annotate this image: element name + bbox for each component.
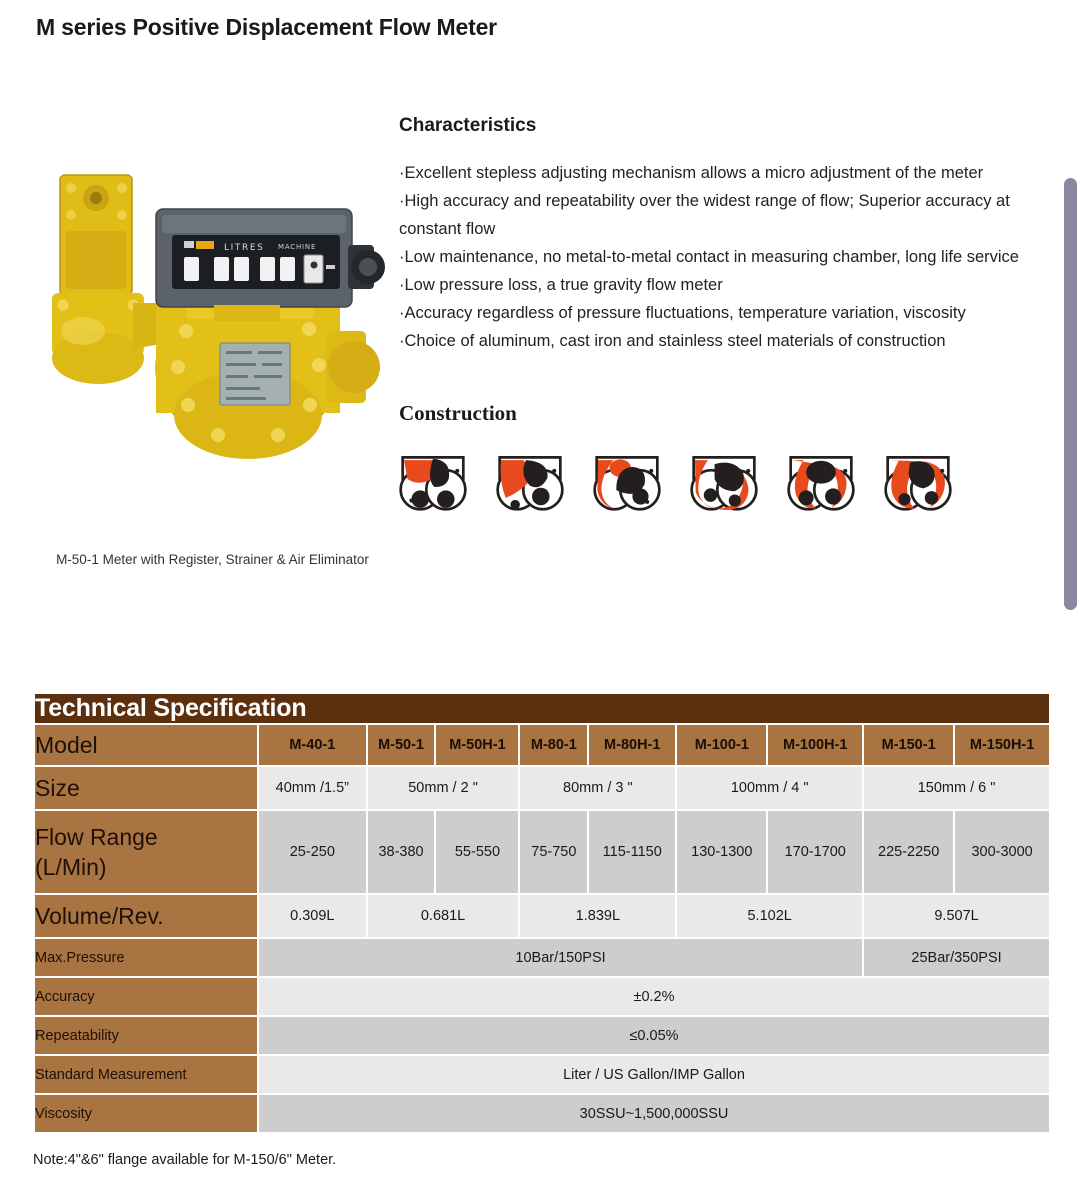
characteristics-heading: Characteristics — [399, 115, 1059, 137]
rotary-lobe-frame-5-icon — [787, 452, 855, 514]
size-cell: 50mm / 2 " — [368, 767, 519, 809]
size-cell: 80mm / 3 " — [520, 767, 675, 809]
max-pressure-cell: 25Bar/350PSI — [864, 939, 1049, 976]
size-cell: 100mm / 4 " — [677, 767, 862, 809]
table-row-viscosity: Viscosity 30SSU~1,500,000SSU — [35, 1095, 1049, 1132]
rotary-lobe-frame-2-icon — [496, 452, 564, 514]
characteristic-item: ·Low pressure loss, a true gravity flow … — [399, 271, 1059, 299]
characteristic-item: ·Accuracy regardless of pressure fluctua… — [399, 299, 1059, 327]
rotary-lobe-frame-1-icon — [399, 452, 467, 514]
viscosity-cell: 30SSU~1,500,000SSU — [259, 1095, 1049, 1132]
technical-specification-table: Technical Specification Model M-40-1 M-5… — [33, 692, 1051, 1134]
model-cell: M-50H-1 — [436, 725, 518, 765]
flow-cell: 115-1150 — [589, 811, 675, 893]
rotary-lobe-frame-3-icon — [593, 452, 661, 514]
page-title: M series Positive Displacement Flow Mete… — [36, 14, 497, 41]
row-label-model: Model — [35, 725, 257, 765]
table-row-accuracy: Accuracy ±0.2% — [35, 978, 1049, 1015]
flow-cell: 170-1700 — [768, 811, 862, 893]
table-row-repeatability: Repeatability ≤0.05% — [35, 1017, 1049, 1054]
model-cell: M-40-1 — [259, 725, 366, 765]
max-pressure-cell: 10Bar/150PSI — [259, 939, 862, 976]
table-row-size: Size 40mm /1.5” 50mm / 2 " 80mm / 3 " 10… — [35, 767, 1049, 809]
size-cell: 40mm /1.5” — [259, 767, 366, 809]
construction-heading: Construction — [399, 401, 1059, 426]
row-label-size: Size — [35, 767, 257, 809]
rotary-lobe-frame-4-icon — [690, 452, 758, 514]
row-label-standard-measurement: Standard Measurement — [35, 1056, 257, 1093]
register-litres-label: LITRES — [224, 243, 264, 253]
volume-cell: 5.102L — [677, 895, 862, 937]
product-page: M series Positive Displacement Flow Mete… — [0, 0, 1080, 1193]
row-label-max-pressure: Max.Pressure — [35, 939, 257, 976]
flow-cell: 225-2250 — [864, 811, 953, 893]
volume-cell: 1.839L — [520, 895, 675, 937]
volume-cell: 0.309L — [259, 895, 366, 937]
row-label-viscosity: Viscosity — [35, 1095, 257, 1132]
table-row-standard-measurement: Standard Measurement Liter / US Gallon/I… — [35, 1056, 1049, 1093]
volume-cell: 0.681L — [368, 895, 519, 937]
row-label-flow-range: Flow Range (L/Min) — [35, 811, 257, 893]
characteristic-item: ·High accuracy and repeatability over th… — [399, 187, 1059, 243]
model-cell: M-80H-1 — [589, 725, 675, 765]
repeatability-cell: ≤0.05% — [259, 1017, 1049, 1054]
product-image: LITRES MACHINE — [30, 95, 395, 550]
table-row-max-pressure: Max.Pressure 10Bar/150PSI 25Bar/350PSI — [35, 939, 1049, 976]
table-row-volume-per-rev: Volume/Rev. 0.309L 0.681L 1.839L 5.102L … — [35, 895, 1049, 937]
model-cell: M-80-1 — [520, 725, 587, 765]
row-label-accuracy: Accuracy — [35, 978, 257, 1015]
product-caption: M-50-1 Meter with Register, Strainer & A… — [30, 552, 395, 567]
characteristic-item: ·Excellent stepless adjusting mechanism … — [399, 159, 1059, 187]
flow-cell: 130-1300 — [677, 811, 766, 893]
characteristic-item: ·Choice of aluminum, cast iron and stain… — [399, 327, 1059, 355]
spec-banner: Technical Specification — [35, 694, 1049, 723]
footer-note: Note:4"&6" flange available for M-150/6"… — [33, 1152, 336, 1168]
flow-range-label-line1: Flow Range — [35, 822, 257, 852]
construction-section: Construction — [399, 401, 1059, 514]
size-cell: 150mm / 6 " — [864, 767, 1049, 809]
model-cell: M-100H-1 — [768, 725, 862, 765]
flow-meter-illustration: LITRES MACHINE — [38, 153, 388, 493]
scrollbar-thumb[interactable] — [1064, 178, 1077, 610]
table-row-flow-range: Flow Range (L/Min) 25-250 38-380 55-550 … — [35, 811, 1049, 893]
flow-cell: 38-380 — [368, 811, 435, 893]
model-cell: M-150H-1 — [955, 725, 1049, 765]
row-label-repeatability: Repeatability — [35, 1017, 257, 1054]
table-row-model: Model M-40-1 M-50-1 M-50H-1 M-80-1 M-80H… — [35, 725, 1049, 765]
accuracy-cell: ±0.2% — [259, 978, 1049, 1015]
construction-frames — [399, 452, 1059, 514]
rotary-lobe-frame-6-icon — [884, 452, 952, 514]
model-cell: M-50-1 — [368, 725, 435, 765]
characteristic-item: ·Low maintenance, no metal-to-metal cont… — [399, 243, 1059, 271]
standard-measurement-cell: Liter / US Gallon/IMP Gallon — [259, 1056, 1049, 1093]
flow-range-label-line2: (L/Min) — [35, 852, 257, 882]
model-cell: M-100-1 — [677, 725, 766, 765]
characteristics-list: ·Excellent stepless adjusting mechanism … — [399, 159, 1059, 355]
flow-cell: 75-750 — [520, 811, 587, 893]
flow-cell: 25-250 — [259, 811, 366, 893]
table-banner-row: Technical Specification — [35, 694, 1049, 723]
flow-cell: 300-3000 — [955, 811, 1049, 893]
row-label-volume-per-rev: Volume/Rev. — [35, 895, 257, 937]
register-brand-label: MACHINE — [278, 243, 316, 251]
model-cell: M-150-1 — [864, 725, 953, 765]
content-column: Characteristics ·Excellent stepless adju… — [399, 115, 1059, 514]
flow-cell: 55-550 — [436, 811, 518, 893]
product-column: LITRES MACHINE — [30, 95, 395, 567]
volume-cell: 9.507L — [864, 895, 1049, 937]
